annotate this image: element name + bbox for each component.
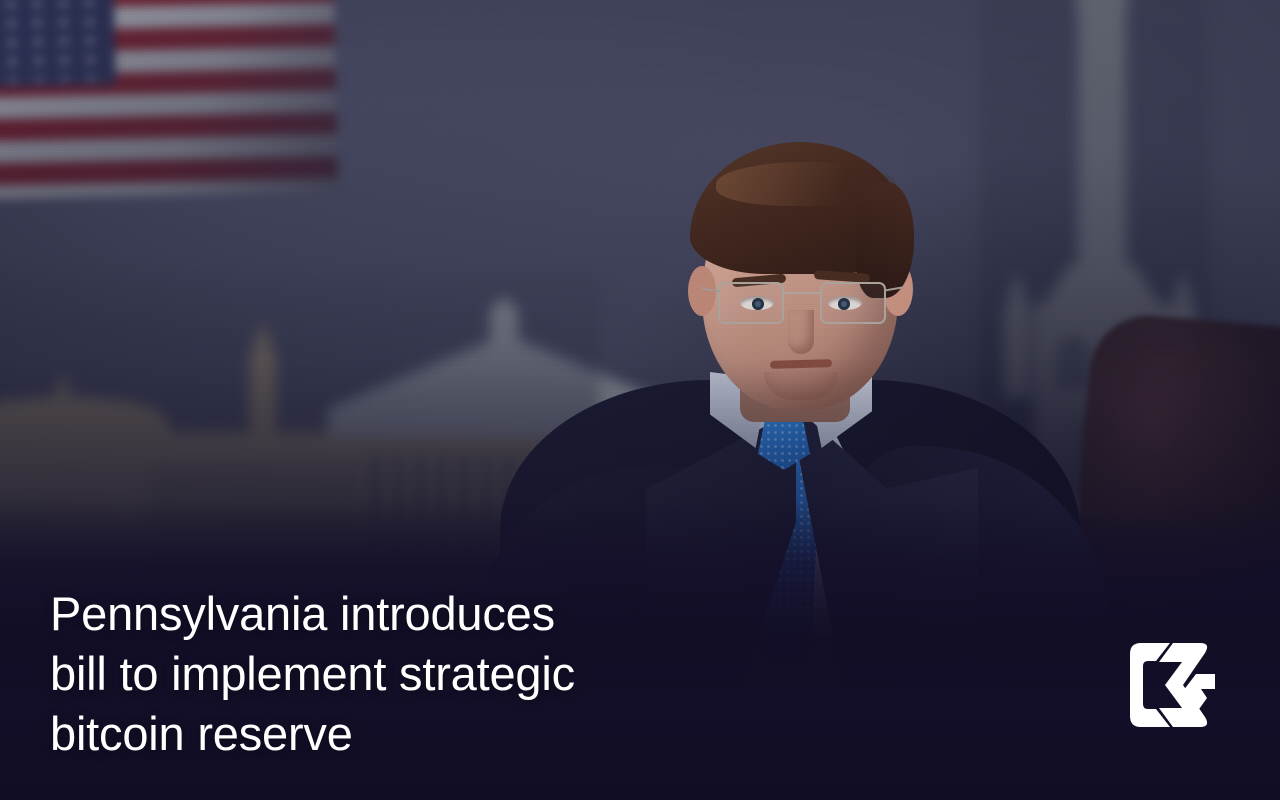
headline-line-3: bitcoin reserve: [50, 704, 810, 764]
news-thumbnail-card: Pennsylvania introduces bill to implemen…: [0, 0, 1280, 800]
kraken-k-monogram-logo[interactable]: [1126, 642, 1218, 728]
headline-line-2: bill to implement strategic: [50, 644, 810, 704]
page-title: Pennsylvania introduces bill to implemen…: [50, 584, 810, 764]
headline-line-1: Pennsylvania introduces: [50, 584, 810, 644]
